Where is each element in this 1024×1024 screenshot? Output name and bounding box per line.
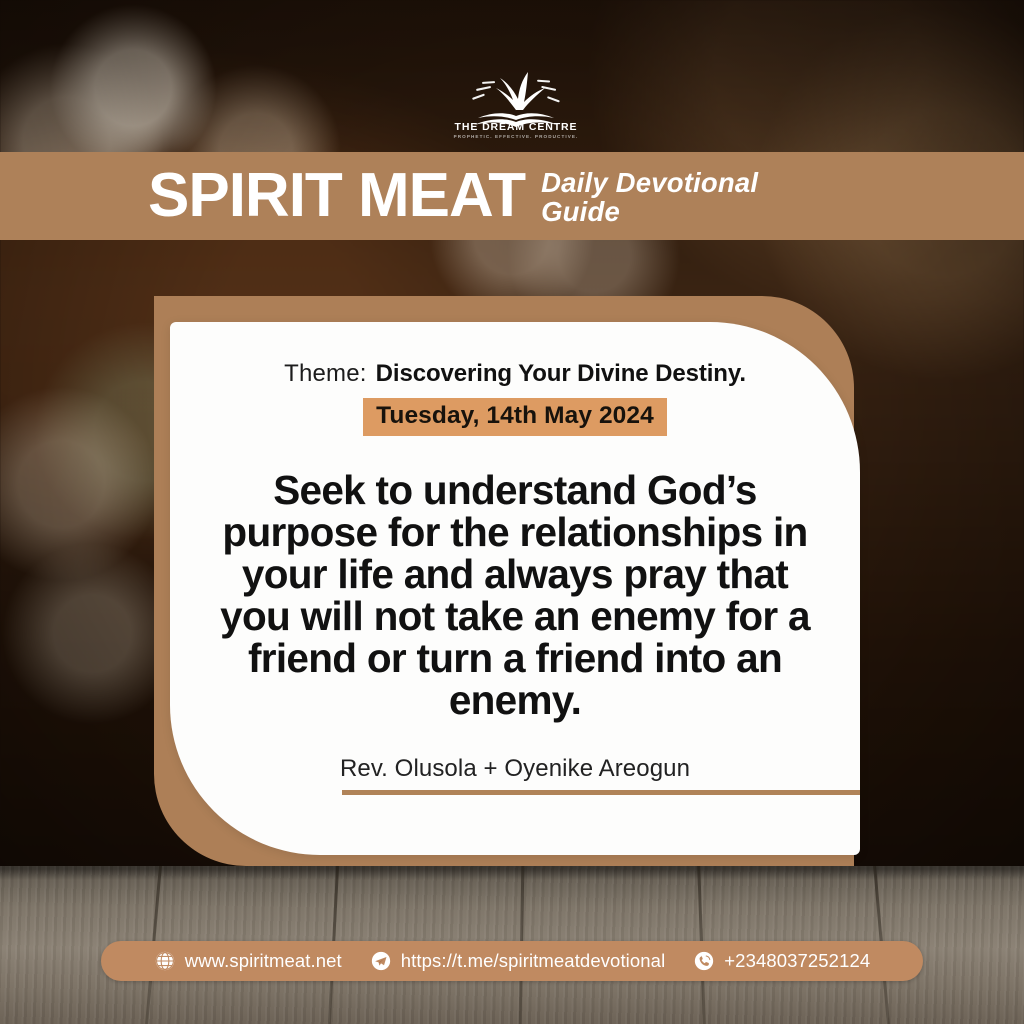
poster-canvas: THE DREAM CENTRE PROPHETIC. EFFECTIVE. P… xyxy=(0,0,1024,1024)
theme-row: Theme: Discovering Your Divine Destiny. xyxy=(204,360,826,388)
logo-tagline: PROPHETIC. EFFECTIVE. PRODUCTIVE. xyxy=(452,134,580,139)
date-row: Tuesday, 14th May 2024 xyxy=(204,398,826,436)
footer-label-website: www.spiritmeat.net xyxy=(185,950,342,972)
devotional-quote: Seek to understand God’s purpose for the… xyxy=(204,470,826,721)
footer-item-telegram[interactable]: https://t.me/spiritmeatdevotional xyxy=(356,950,679,972)
footer-item-phone[interactable]: +2348037252124 xyxy=(679,950,884,972)
devotional-card: Theme: Discovering Your Divine Destiny. … xyxy=(170,322,860,855)
banner-title: SPIRIT MEAT xyxy=(148,165,525,227)
footer-item-website[interactable]: www.spiritmeat.net xyxy=(140,950,356,972)
banner-subtitle: Daily Devotional Guide xyxy=(541,168,811,226)
footer-label-phone: +2348037252124 xyxy=(724,950,870,972)
telegram-icon xyxy=(370,950,392,972)
contact-footer-bar: www.spiritmeat.net https://t.me/spiritme… xyxy=(101,941,923,981)
title-banner: SPIRIT MEAT Daily Devotional Guide xyxy=(0,152,1024,240)
author-credit: Rev. Olusola + Oyenike Areogun xyxy=(204,755,826,783)
theme-value: Discovering Your Divine Destiny. xyxy=(376,360,746,388)
logo-wordmark: THE DREAM CENTRE xyxy=(452,121,580,133)
globe-icon xyxy=(154,950,176,972)
theme-label: Theme: xyxy=(284,360,367,388)
author-divider xyxy=(342,790,860,795)
phone-icon xyxy=(693,950,715,972)
date-badge: Tuesday, 14th May 2024 xyxy=(363,398,667,436)
footer-label-telegram: https://t.me/spiritmeatdevotional xyxy=(401,950,665,972)
dream-centre-logo: THE DREAM CENTRE PROPHETIC. EFFECTIVE. P… xyxy=(452,58,580,150)
